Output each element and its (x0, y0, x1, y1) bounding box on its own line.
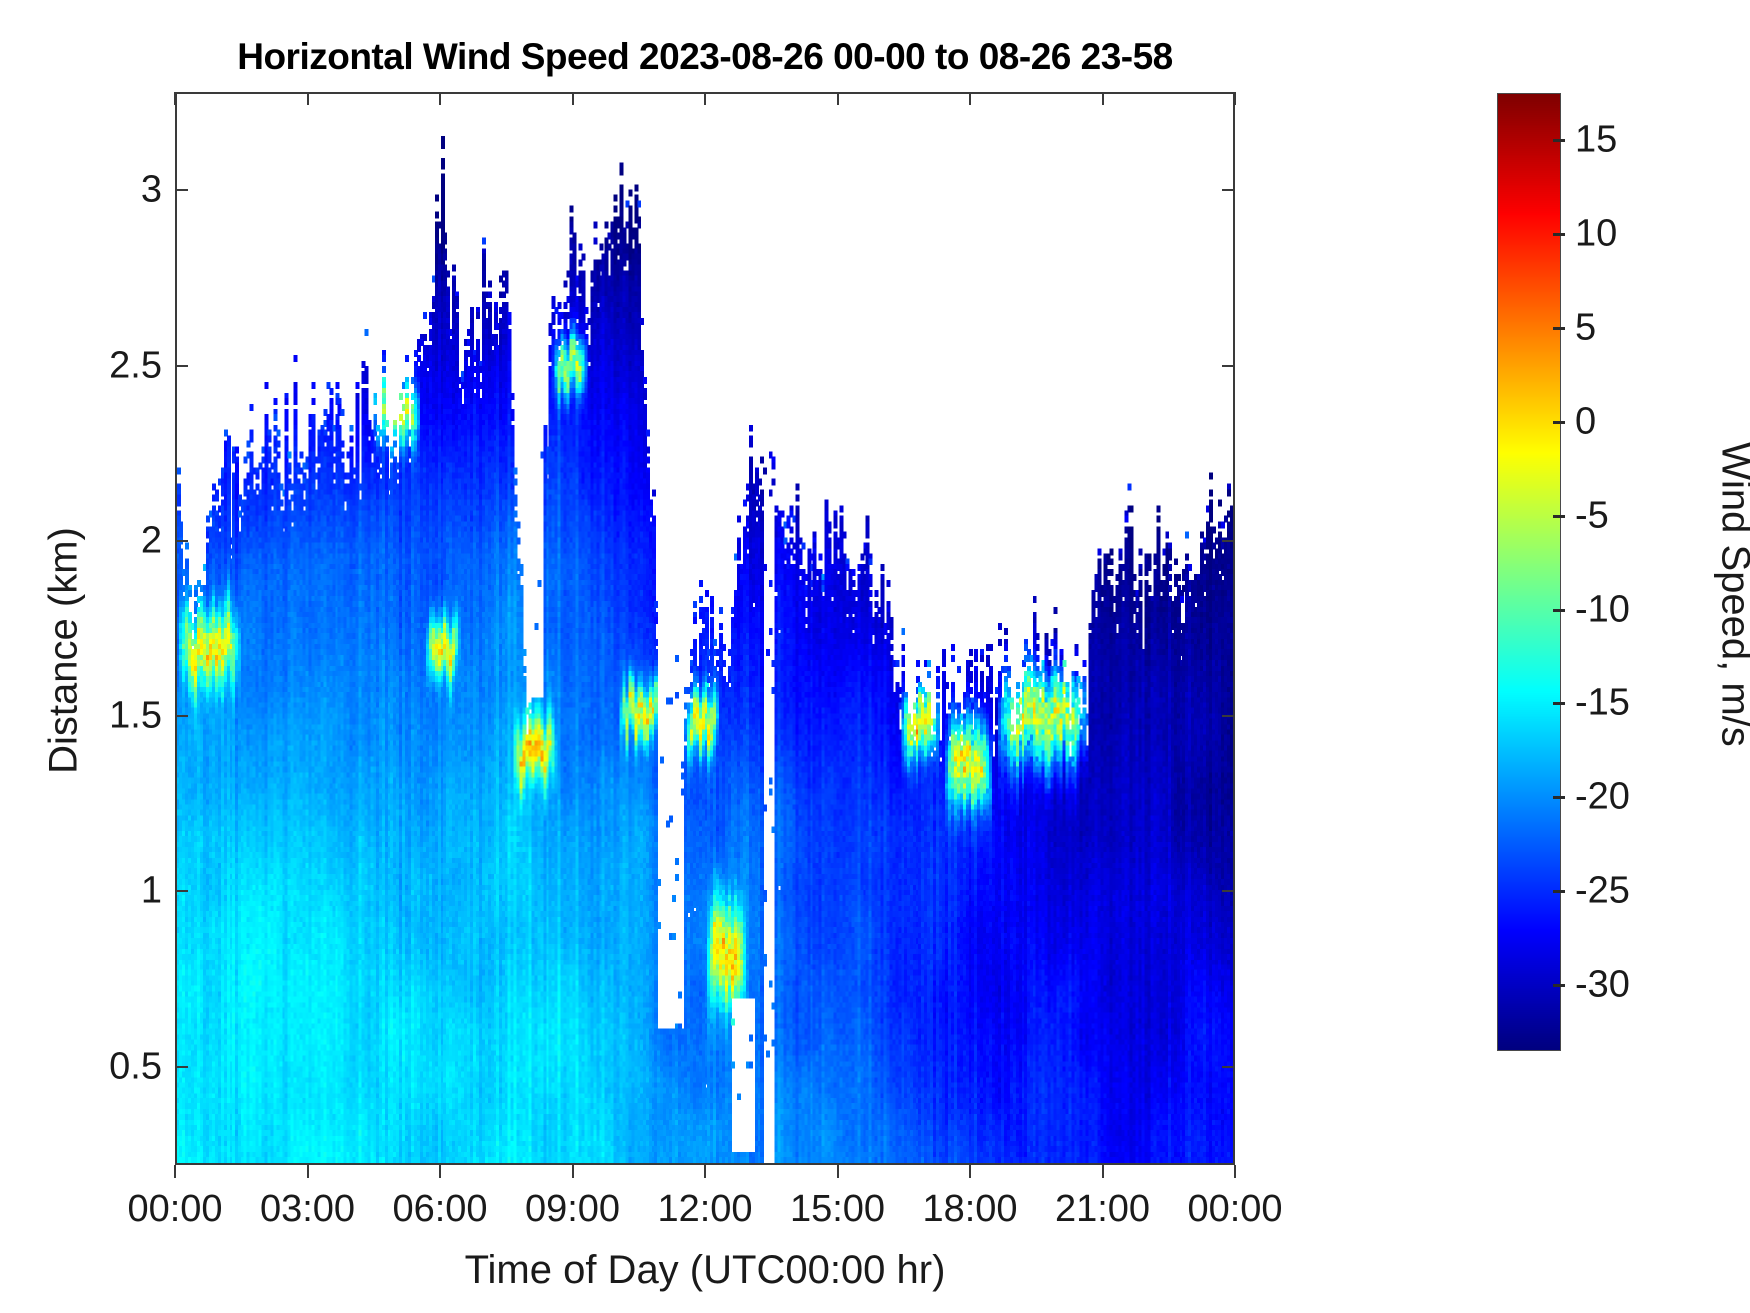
colorbar-tick-label: -10 (1575, 588, 1630, 631)
x-tick-mark (1102, 1165, 1104, 1178)
x-tick-mark-top (307, 92, 309, 105)
y-tick-label: 2 (141, 519, 162, 562)
y-axis-label: Distance (km) (42, 331, 87, 971)
y-tick-label: 1.5 (109, 695, 162, 738)
y-tick-label: 1 (141, 870, 162, 913)
colorbar-tick-label: -20 (1575, 776, 1630, 819)
y-tick-label: 2.5 (109, 344, 162, 387)
y-tick-mark-right (1222, 1066, 1235, 1068)
x-tick-mark-top (572, 92, 574, 105)
x-tick-mark-top (969, 92, 971, 105)
x-axis-label: Time of Day (UTC00:00 hr) (175, 1248, 1235, 1293)
colorbar-tick-label: -25 (1575, 870, 1630, 913)
x-tick-label: 00:00 (1187, 1188, 1282, 1231)
y-tick-mark-right (1222, 189, 1235, 191)
y-tick-mark (175, 540, 188, 542)
colorbar-tick-mark (1553, 515, 1565, 518)
colorbar-tick-label: 5 (1575, 306, 1596, 349)
x-tick-mark (704, 1165, 706, 1178)
x-tick-label: 18:00 (922, 1188, 1017, 1231)
colorbar-tick-mark (1553, 702, 1565, 705)
x-tick-mark (1234, 1165, 1236, 1178)
x-tick-mark (307, 1165, 309, 1178)
colorbar-tick-label: -5 (1575, 494, 1609, 537)
y-tick-label: 3 (141, 169, 162, 212)
y-tick-mark-right (1222, 540, 1235, 542)
colorbar-tick-mark (1553, 421, 1565, 424)
x-tick-label: 03:00 (260, 1188, 355, 1231)
y-tick-mark (175, 189, 188, 191)
x-tick-label: 21:00 (1055, 1188, 1150, 1231)
y-tick-mark (175, 890, 188, 892)
x-tick-mark (969, 1165, 971, 1178)
colorbar[interactable] (1497, 93, 1561, 1051)
colorbar-label: Wind Speed, m/s (1713, 315, 1750, 875)
colorbar-tick-label: -30 (1575, 964, 1630, 1007)
colorbar-tick-label: 15 (1575, 118, 1617, 161)
y-tick-mark-right (1222, 365, 1235, 367)
page-title: Horizontal Wind Speed 2023-08-26 00-00 t… (175, 36, 1235, 78)
heatmap-image (177, 94, 1233, 1163)
y-tick-mark (175, 1066, 188, 1068)
y-tick-label: 0.5 (109, 1045, 162, 1088)
x-tick-mark (439, 1165, 441, 1178)
colorbar-tick-mark (1553, 609, 1565, 612)
colorbar-tick-label: -15 (1575, 682, 1630, 725)
x-tick-mark (174, 1165, 176, 1178)
x-tick-label: 00:00 (127, 1188, 222, 1231)
y-tick-mark (175, 365, 188, 367)
x-tick-mark-top (1234, 92, 1236, 105)
x-tick-label: 15:00 (790, 1188, 885, 1231)
y-tick-mark-right (1222, 715, 1235, 717)
heatmap-axes[interactable] (175, 92, 1235, 1165)
x-tick-mark-top (837, 92, 839, 105)
colorbar-tick-mark (1553, 327, 1565, 330)
y-tick-mark-right (1222, 890, 1235, 892)
colorbar-tick-mark (1553, 139, 1565, 142)
x-tick-mark-top (704, 92, 706, 105)
y-tick-mark (175, 715, 188, 717)
colorbar-tick-label: 0 (1575, 400, 1596, 443)
colorbar-tick-mark (1553, 890, 1565, 893)
x-tick-mark-top (1102, 92, 1104, 105)
colorbar-tick-mark (1553, 233, 1565, 236)
colorbar-tick-mark (1553, 796, 1565, 799)
x-tick-label: 09:00 (525, 1188, 620, 1231)
colorbar-tick-label: 10 (1575, 212, 1617, 255)
figure-canvas: Horizontal Wind Speed 2023-08-26 00-00 t… (0, 0, 1750, 1313)
x-tick-mark (837, 1165, 839, 1178)
colorbar-tick-mark (1553, 984, 1565, 987)
x-tick-label: 12:00 (657, 1188, 752, 1231)
colorbar-gradient (1497, 93, 1561, 1051)
x-tick-mark-top (174, 92, 176, 105)
x-tick-mark-top (439, 92, 441, 105)
x-tick-label: 06:00 (392, 1188, 487, 1231)
x-tick-mark (572, 1165, 574, 1178)
